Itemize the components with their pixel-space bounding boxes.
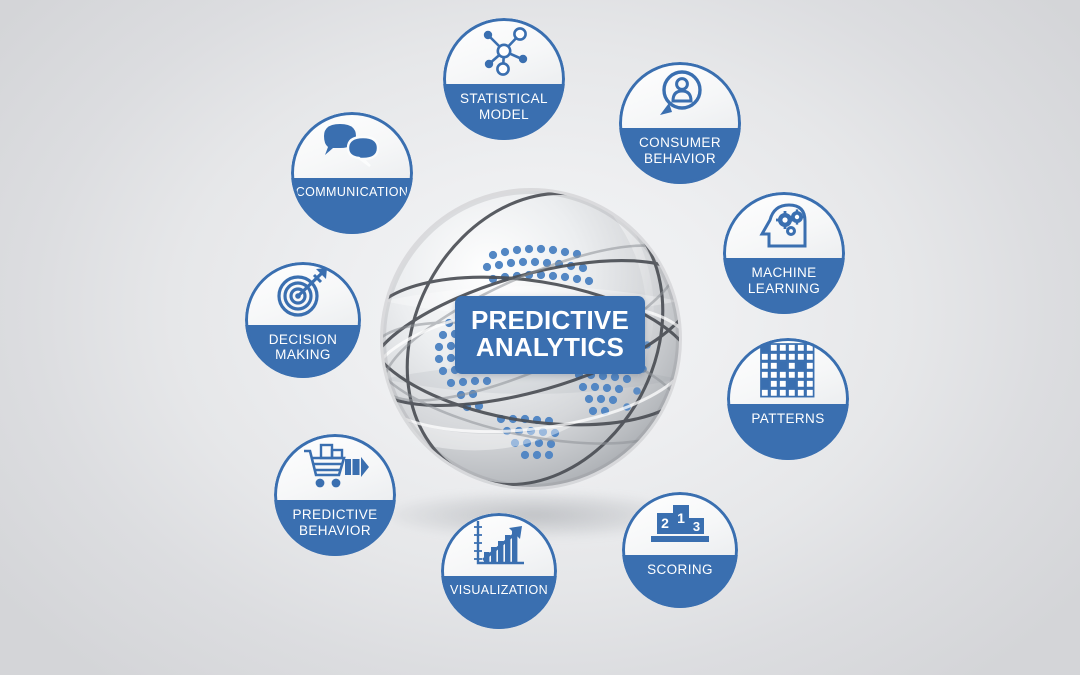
- node-label-visualization: VISUALIZATION: [450, 583, 548, 598]
- label-area: CONSUMER BEHAVIOR: [619, 128, 741, 184]
- node-predictive-behavior[interactable]: PREDICTIVE BEHAVIOR: [274, 434, 396, 556]
- node-consumer-behavior[interactable]: CONSUMER BEHAVIOR: [619, 62, 741, 184]
- icon-area: [291, 112, 413, 178]
- label-area: COMMUNICATION: [291, 178, 413, 234]
- node-label-communication: COMMUNICATION: [296, 185, 409, 200]
- icon-area: [727, 338, 849, 404]
- icon-area: 2 1 3: [622, 492, 738, 555]
- grid-squares-icon: [760, 343, 816, 399]
- icon-area: [441, 513, 557, 576]
- label-area: PATTERNS: [727, 404, 849, 460]
- page-title: PREDICTIVE ANALYTICS: [469, 307, 631, 361]
- node-visualization[interactable]: VISUALIZATION: [441, 513, 557, 629]
- node-label-predictive-behavior: PREDICTIVE BEHAVIOR: [292, 507, 377, 538]
- node-machine-learning[interactable]: MACHINE LEARNING: [723, 192, 845, 314]
- icon-area: [245, 262, 361, 325]
- center-title-plate: PREDICTIVE ANALYTICS: [455, 296, 645, 374]
- icon-area: [723, 192, 845, 258]
- label-area: DECISION MAKING: [245, 325, 361, 378]
- podium-icon: 2 1 3: [649, 500, 711, 546]
- node-label-scoring: SCORING: [647, 562, 713, 578]
- head-gears-icon: [755, 200, 813, 250]
- node-label-decision-making: DECISION MAKING: [269, 332, 337, 363]
- icon-area: [443, 18, 565, 84]
- label-area: PREDICTIVE BEHAVIOR: [274, 500, 396, 556]
- bar-chart-arrow-icon: [470, 519, 528, 569]
- target-arrow-icon: [275, 267, 331, 319]
- node-label-consumer-behavior: CONSUMER BEHAVIOR: [639, 135, 721, 166]
- svg-text:2: 2: [661, 515, 669, 531]
- node-label-machine-learning: MACHINE LEARNING: [748, 265, 820, 296]
- magnifier-person-icon: [653, 68, 707, 122]
- node-label-statistical-model: STATISTICAL MODEL: [460, 91, 548, 122]
- label-area: VISUALIZATION: [441, 576, 557, 629]
- shopping-cart-arrow-icon: [301, 443, 369, 491]
- svg-text:3: 3: [693, 519, 700, 534]
- node-label-patterns: PATTERNS: [751, 411, 824, 427]
- node-communication[interactable]: COMMUNICATION: [291, 112, 413, 234]
- icon-area: [274, 434, 396, 500]
- label-area: SCORING: [622, 555, 738, 608]
- speech-bubbles-icon: [321, 122, 383, 168]
- label-area: STATISTICAL MODEL: [443, 84, 565, 140]
- svg-text:1: 1: [677, 510, 685, 526]
- infographic-canvas: PREDICTIVE ANALYTICS: [0, 0, 1080, 675]
- network-nodes-icon: [476, 25, 532, 77]
- node-patterns[interactable]: PATTERNS: [727, 338, 849, 460]
- label-area: MACHINE LEARNING: [723, 258, 845, 314]
- node-decision-making[interactable]: DECISION MAKING: [245, 262, 361, 378]
- node-statistical-model[interactable]: STATISTICAL MODEL: [443, 18, 565, 140]
- node-scoring[interactable]: 2 1 3 SCORING: [622, 492, 738, 608]
- icon-area: [619, 62, 741, 128]
